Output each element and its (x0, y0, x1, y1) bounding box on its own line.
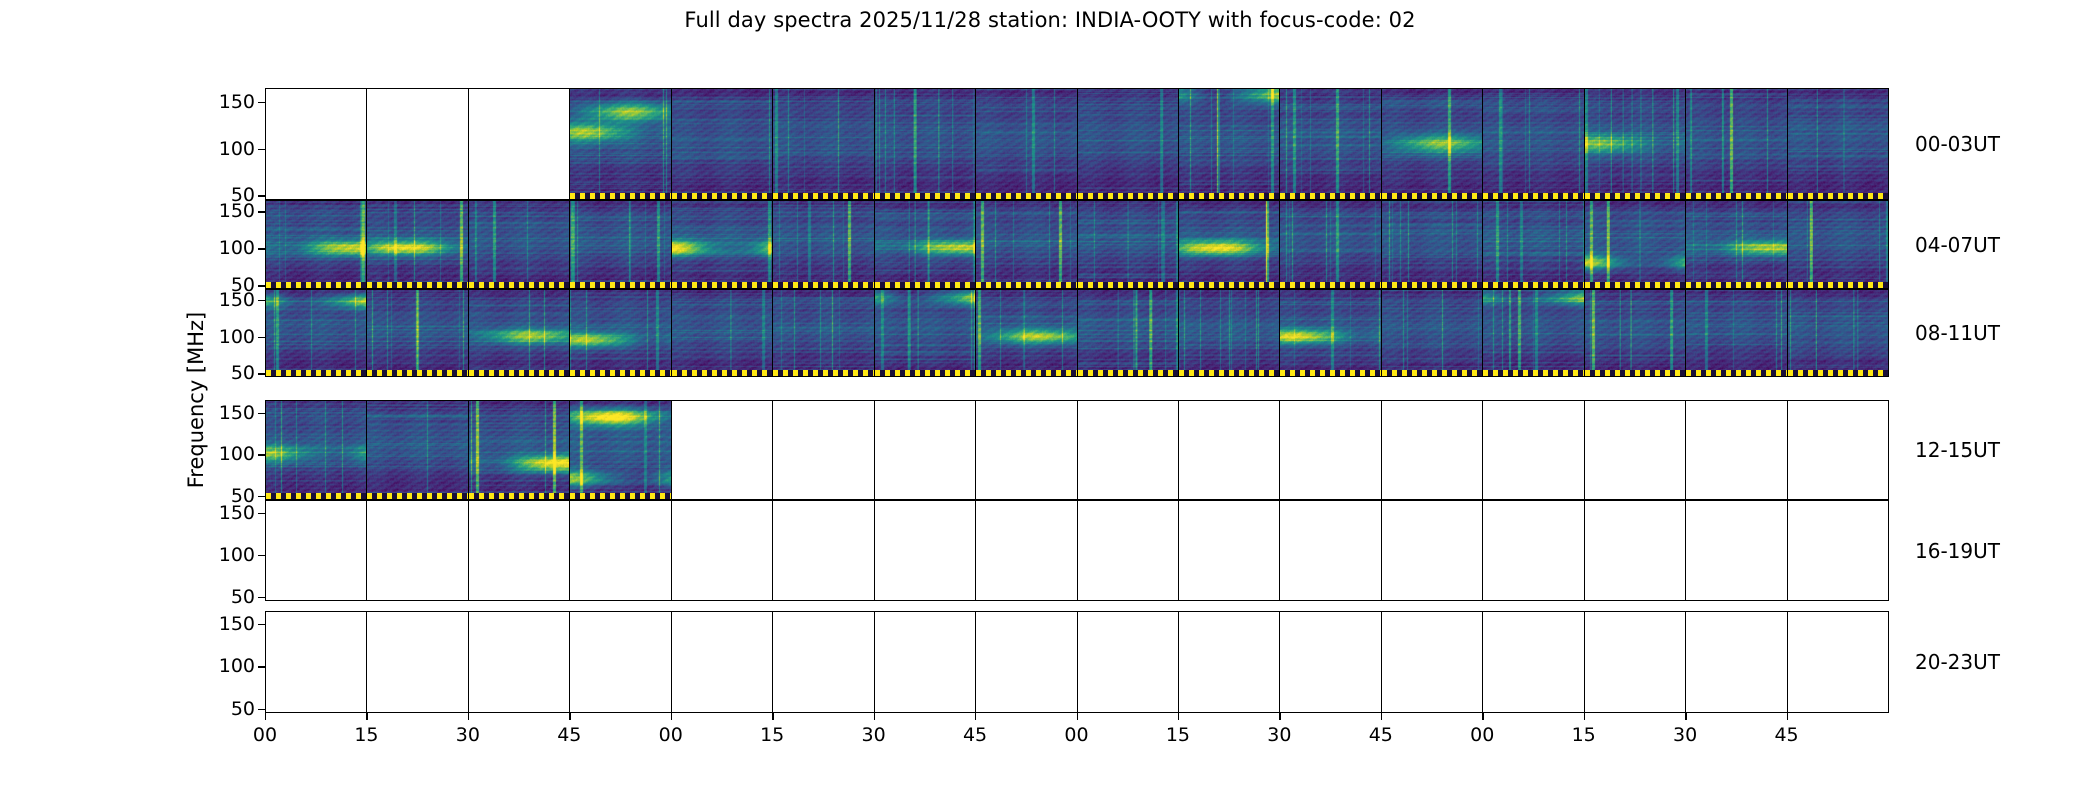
spectrogram-panel (1077, 88, 1180, 200)
spectrogram-canvas (367, 401, 468, 499)
x-tick-label: 45 (557, 724, 581, 746)
spectrogram-canvas (773, 290, 874, 376)
y-tick-mark (258, 149, 265, 150)
empty-panel (1381, 400, 1484, 500)
spectrogram-image (976, 201, 1077, 288)
panel-tick-mark (1077, 150, 1078, 151)
panel-tick-mark (975, 497, 976, 498)
x-tick-label: 15 (760, 724, 784, 746)
panel-tick-mark (569, 103, 570, 104)
spectrogram-canvas (367, 290, 468, 376)
panel-tick-mark (1482, 249, 1483, 250)
y-tick-mark (258, 300, 265, 301)
panel-tick-mark (1482, 338, 1483, 339)
spectrogram-canvas (1280, 201, 1381, 288)
panel-tick-mark (468, 301, 469, 302)
empty-panel (671, 400, 774, 500)
panel-tick-mark (975, 196, 976, 197)
panel-tick-mark (1482, 514, 1483, 515)
spectrogram-image (1483, 201, 1584, 288)
spectrogram-image (1179, 290, 1280, 376)
panel-tick-mark (874, 414, 875, 415)
empty-panel (265, 88, 368, 200)
spectrogram-panel (671, 200, 774, 289)
panel-tick-mark (468, 196, 469, 197)
panel-tick-mark (1381, 249, 1382, 250)
panel-tick-mark (1787, 598, 1788, 599)
panel-tick-mark (1178, 249, 1179, 250)
spectrogram-panel (569, 400, 672, 500)
panel-tick-mark (671, 556, 672, 557)
panel-tick-mark (772, 625, 773, 626)
spectrogram-canvas (1280, 290, 1381, 376)
y-tick-label: 100 (219, 138, 255, 160)
data-availability-marker (1280, 282, 1381, 288)
panel-tick-mark (671, 103, 672, 104)
data-availability-marker (1585, 282, 1686, 288)
spectrogram-canvas (570, 401, 671, 499)
spectrogram-image (1483, 290, 1584, 376)
data-availability-marker (773, 282, 874, 288)
panel-tick-mark (975, 103, 976, 104)
empty-panel (772, 500, 875, 601)
spectrogram-image (469, 290, 570, 376)
panel-tick-mark (1381, 212, 1382, 213)
panel-tick-mark (975, 556, 976, 557)
spectrogram-image (1179, 201, 1280, 288)
panel-tick-mark (1279, 625, 1280, 626)
data-availability-marker (1078, 370, 1179, 376)
spectrogram-canvas (266, 401, 367, 499)
spectrogram-image (469, 201, 570, 288)
spectrogram-panel (874, 88, 977, 200)
panel-tick-mark (1178, 625, 1179, 626)
panel-tick-mark (569, 374, 570, 375)
panel-tick-mark (1381, 667, 1382, 668)
panel-tick-mark (874, 150, 875, 151)
data-availability-marker (875, 282, 976, 288)
spectrogram-row-04-07ut: 50100150 (265, 200, 1888, 289)
y-tick-label: 100 (219, 655, 255, 677)
panel-tick-mark (1685, 212, 1686, 213)
spectrogram-canvas (1382, 290, 1483, 376)
spectrogram-image (1686, 290, 1787, 376)
panel-tick-mark (1584, 414, 1585, 415)
panel-tick-mark (1482, 150, 1483, 151)
data-availability-marker (1382, 370, 1483, 376)
panel-tick-mark (1482, 103, 1483, 104)
panel-tick-mark (1381, 625, 1382, 626)
panel-tick-mark (772, 598, 773, 599)
panel-tick-mark (1279, 414, 1280, 415)
panel-tick-mark (874, 710, 875, 711)
spectrogram-canvas (367, 201, 468, 288)
spectrogram-panel (1381, 200, 1484, 289)
panel-tick-mark (1381, 301, 1382, 302)
empty-panel (671, 500, 774, 601)
spectrogram-image (570, 89, 671, 199)
panel-tick-mark (1787, 103, 1788, 104)
panel-tick-mark (1787, 556, 1788, 557)
panel-tick-mark (874, 212, 875, 213)
panel-tick-mark (1685, 196, 1686, 197)
spectrogram-panel (1178, 88, 1281, 200)
empty-panel (1077, 400, 1180, 500)
spectrogram-canvas (672, 201, 773, 288)
x-tick-label: 00 (1064, 724, 1088, 746)
panel-tick-mark (1279, 196, 1280, 197)
spectrogram-image (1686, 201, 1787, 288)
spectrogram-canvas (1078, 89, 1179, 199)
spectrogram-row-12-15ut: 50100150 (265, 400, 1888, 500)
panel-tick-mark (366, 667, 367, 668)
panel-tick-mark (1685, 301, 1686, 302)
spectrogram-canvas (672, 89, 773, 199)
x-tick-label: 15 (1572, 724, 1596, 746)
panel-tick-mark (366, 338, 367, 339)
data-availability-marker (1788, 370, 1889, 376)
panel-tick-mark (1381, 286, 1382, 287)
spectrogram-panel (569, 88, 672, 200)
panel-tick-mark (772, 497, 773, 498)
panel-tick-mark (1279, 514, 1280, 515)
panel-tick-mark (671, 374, 672, 375)
panel-tick-mark (1279, 286, 1280, 287)
panel-tick-mark (1685, 556, 1686, 557)
spectrogram-panel (1381, 88, 1484, 200)
panel-tick-mark (1381, 414, 1382, 415)
spectrogram-image (570, 401, 671, 499)
data-availability-marker (266, 282, 367, 288)
spectrogram-image (773, 89, 874, 199)
spectrogram-panel (1077, 200, 1180, 289)
panel-tick-mark (1482, 301, 1483, 302)
panel-tick-mark (1178, 196, 1179, 197)
panel-tick-mark (1482, 414, 1483, 415)
spectrogram-canvas (976, 201, 1077, 288)
x-tick-mark (1178, 713, 1179, 720)
spectrogram-canvas (1483, 89, 1584, 199)
x-tick-label: 30 (1673, 724, 1697, 746)
spectrogram-image (570, 201, 671, 288)
panel-tick-mark (1381, 455, 1382, 456)
spectrogram-panel (772, 88, 875, 200)
panel-tick-mark (1482, 212, 1483, 213)
y-tick-mark (258, 624, 265, 625)
panel-tick-mark (366, 710, 367, 711)
panel-tick-mark (1279, 497, 1280, 498)
data-availability-marker (976, 193, 1077, 199)
y-tick-label: 150 (219, 502, 255, 524)
empty-panel (1077, 611, 1180, 713)
x-tick-label: 45 (1774, 724, 1798, 746)
spectrogram-canvas (570, 290, 671, 376)
panel-tick-mark (1584, 710, 1585, 711)
panel-tick-mark (874, 598, 875, 599)
panel-tick-mark (569, 150, 570, 151)
spectrogram-image (570, 290, 671, 376)
empty-panel (1482, 500, 1585, 601)
panel-tick-mark (366, 414, 367, 415)
y-tick-label: 100 (219, 443, 255, 465)
spectrogram-canvas (1788, 290, 1889, 376)
panel-tick-mark (1482, 374, 1483, 375)
panel-tick-mark (1077, 338, 1078, 339)
panel-tick-mark (874, 286, 875, 287)
spectrogram-image (1686, 89, 1787, 199)
panel-tick-mark (1584, 556, 1585, 557)
panel-tick-mark (1178, 598, 1179, 599)
panel-tick-mark (1279, 338, 1280, 339)
data-availability-marker (367, 282, 468, 288)
panel-tick-mark (1787, 414, 1788, 415)
panel-tick-mark (1584, 514, 1585, 515)
panel-tick-mark (975, 414, 976, 415)
panel-tick-mark (1077, 598, 1078, 599)
x-tick-mark (1279, 713, 1280, 720)
spectrogram-image (672, 290, 773, 376)
panel-tick-mark (1685, 103, 1686, 104)
empty-panel (1685, 611, 1788, 713)
spectrogram-panel (1584, 200, 1687, 289)
panel-tick-mark (975, 212, 976, 213)
spectrogram-panel (1787, 88, 1890, 200)
y-tick-mark (258, 709, 265, 710)
data-availability-marker (672, 370, 773, 376)
data-availability-marker (1179, 193, 1280, 199)
spectrogram-image (773, 201, 874, 288)
spectrogram-image (672, 201, 773, 288)
panel-tick-mark (772, 249, 773, 250)
x-tick-mark (1584, 713, 1585, 720)
x-tick-mark (366, 713, 367, 720)
panel-tick-mark (1077, 212, 1078, 213)
spectrogram-panel (1787, 200, 1890, 289)
panel-tick-mark (366, 556, 367, 557)
spectrogram-image (773, 290, 874, 376)
y-tick-label: 50 (231, 362, 255, 384)
spectrogram-image (875, 201, 976, 288)
panel-tick-mark (671, 625, 672, 626)
panel-tick-mark (1482, 455, 1483, 456)
spectrogram-canvas (1078, 201, 1179, 288)
panel-tick-mark (1482, 667, 1483, 668)
panel-tick-mark (975, 514, 976, 515)
panel-tick-mark (1482, 710, 1483, 711)
data-availability-marker (1686, 282, 1787, 288)
spectrogram-canvas (1483, 290, 1584, 376)
panel-tick-mark (1178, 374, 1179, 375)
x-tick-label: 30 (862, 724, 886, 746)
spectrogram-panel (671, 289, 774, 377)
panel-tick-mark (1685, 710, 1686, 711)
panel-tick-mark (1178, 455, 1179, 456)
panel-tick-mark (1279, 301, 1280, 302)
spectrogram-panel (874, 289, 977, 377)
panel-tick-mark (1381, 598, 1382, 599)
spectrogram-panel (265, 400, 368, 500)
empty-panel (366, 611, 469, 713)
panel-tick-mark (1279, 556, 1280, 557)
panel-tick-mark (874, 625, 875, 626)
panel-tick-mark (874, 103, 875, 104)
spectrogram-canvas (875, 201, 976, 288)
panel-tick-mark (1584, 286, 1585, 287)
spectrogram-image (1280, 201, 1381, 288)
spectrogram-panel (569, 200, 672, 289)
panel-tick-mark (975, 338, 976, 339)
panel-tick-mark (1685, 286, 1686, 287)
panel-tick-mark (671, 249, 672, 250)
spectrogram-canvas (570, 89, 671, 199)
panel-tick-mark (1482, 497, 1483, 498)
panel-tick-mark (1584, 249, 1585, 250)
empty-panel (366, 88, 469, 200)
y-tick-mark (258, 454, 265, 455)
empty-panel (1482, 611, 1585, 713)
panel-tick-mark (1381, 556, 1382, 557)
panel-tick-mark (1584, 374, 1585, 375)
empty-panel (569, 500, 672, 601)
spectrogram-image (672, 89, 773, 199)
x-tick-label: 45 (1369, 724, 1393, 746)
empty-panel (1178, 611, 1281, 713)
panel-tick-mark (975, 455, 976, 456)
panel-tick-mark (874, 338, 875, 339)
empty-panel (265, 500, 368, 601)
panel-tick-mark (1685, 497, 1686, 498)
spectrogram-image (976, 89, 1077, 199)
panel-tick-mark (468, 710, 469, 711)
spectrogram-panel (1685, 289, 1788, 377)
data-availability-marker (1686, 193, 1787, 199)
row-label-20-23ut: 20-23UT (1915, 650, 2000, 674)
panel-tick-mark (366, 497, 367, 498)
panel-tick-mark (468, 497, 469, 498)
panel-tick-mark (1381, 196, 1382, 197)
spectrogram-image (367, 290, 468, 376)
empty-panel (874, 611, 977, 713)
spectrogram-image (1280, 89, 1381, 199)
panel-tick-mark (1077, 455, 1078, 456)
panel-tick-mark (1178, 514, 1179, 515)
empty-panel (874, 400, 977, 500)
row-label-08-11ut: 08-11UT (1915, 321, 2000, 345)
panel-tick-mark (1178, 497, 1179, 498)
panel-tick-mark (1787, 710, 1788, 711)
panel-tick-mark (569, 598, 570, 599)
spectrogram-canvas (976, 290, 1077, 376)
empty-panel (1279, 400, 1382, 500)
panel-tick-mark (975, 150, 976, 151)
row-label-04-07ut: 04-07UT (1915, 233, 2000, 257)
spectrogram-panel (1077, 289, 1180, 377)
y-tick-label: 100 (219, 326, 255, 348)
x-tick-mark (671, 713, 672, 720)
panel-tick-mark (671, 414, 672, 415)
panel-tick-mark (671, 150, 672, 151)
panel-tick-mark (1482, 286, 1483, 287)
y-tick-mark (258, 102, 265, 103)
figure-title: Full day spectra 2025/11/28 station: IND… (0, 8, 2100, 32)
spectrogram-panel (366, 200, 469, 289)
panel-tick-mark (1381, 103, 1382, 104)
spectrogram-row-20-23ut: 5010015000153045001530450015304500153045 (265, 611, 1888, 713)
panel-tick-mark (569, 212, 570, 213)
x-tick-mark (1787, 713, 1788, 720)
y-tick-label: 50 (231, 698, 255, 720)
spectrogram-image (1280, 290, 1381, 376)
spectrogram-image (266, 401, 367, 499)
spectrogram-canvas (1585, 89, 1686, 199)
data-availability-marker (469, 493, 570, 499)
spectrogram-image (976, 290, 1077, 376)
spectrogram-image (1382, 89, 1483, 199)
spectrogram-image (1585, 201, 1686, 288)
x-tick-mark (1482, 713, 1483, 720)
y-tick-mark (258, 555, 265, 556)
panel-tick-mark (1381, 338, 1382, 339)
spectrogram-canvas (1382, 201, 1483, 288)
panel-tick-mark (874, 667, 875, 668)
panel-tick-mark (671, 196, 672, 197)
data-availability-marker (1179, 282, 1280, 288)
panel-tick-mark (1077, 301, 1078, 302)
spectrogram-panel (975, 200, 1078, 289)
panel-tick-mark (1685, 598, 1686, 599)
spectrogram-canvas (1788, 89, 1889, 199)
panel-tick-mark (1279, 249, 1280, 250)
data-availability-marker (1382, 193, 1483, 199)
spectrogram-canvas (672, 290, 773, 376)
x-tick-mark (468, 713, 469, 720)
spectrogram-image (1788, 89, 1889, 199)
spectrogram-image (367, 201, 468, 288)
data-availability-marker (570, 193, 671, 199)
panel-tick-mark (468, 103, 469, 104)
panel-tick-mark (874, 556, 875, 557)
panel-tick-mark (569, 514, 570, 515)
data-availability-marker (1382, 282, 1483, 288)
spectrogram-panel (468, 200, 571, 289)
empty-panel (468, 88, 571, 200)
panel-tick-mark (772, 338, 773, 339)
y-tick-label: 150 (219, 402, 255, 424)
panel-tick-mark (569, 497, 570, 498)
panel-tick-mark (671, 212, 672, 213)
panel-tick-mark (366, 625, 367, 626)
panel-tick-mark (1685, 455, 1686, 456)
x-tick-label: 00 (659, 724, 683, 746)
panel-tick-mark (874, 196, 875, 197)
panel-tick-mark (1077, 103, 1078, 104)
empty-panel (1381, 500, 1484, 601)
panel-tick-mark (366, 514, 367, 515)
spectrogram-row-08-11ut: 50100150 (265, 289, 1888, 377)
spectrogram-panel (366, 289, 469, 377)
panel-tick-mark (1787, 249, 1788, 250)
spectrogram-panel (1685, 88, 1788, 200)
panel-tick-mark (1685, 514, 1686, 515)
spectrogram-row-00-03ut: 50100150 (265, 88, 1888, 200)
spectrogram-canvas (469, 290, 570, 376)
panel-tick-mark (1685, 249, 1686, 250)
panel-tick-mark (1787, 301, 1788, 302)
y-tick-mark (258, 496, 265, 497)
empty-panel (1584, 500, 1687, 601)
data-availability-marker (1280, 193, 1381, 199)
panel-tick-mark (1787, 497, 1788, 498)
